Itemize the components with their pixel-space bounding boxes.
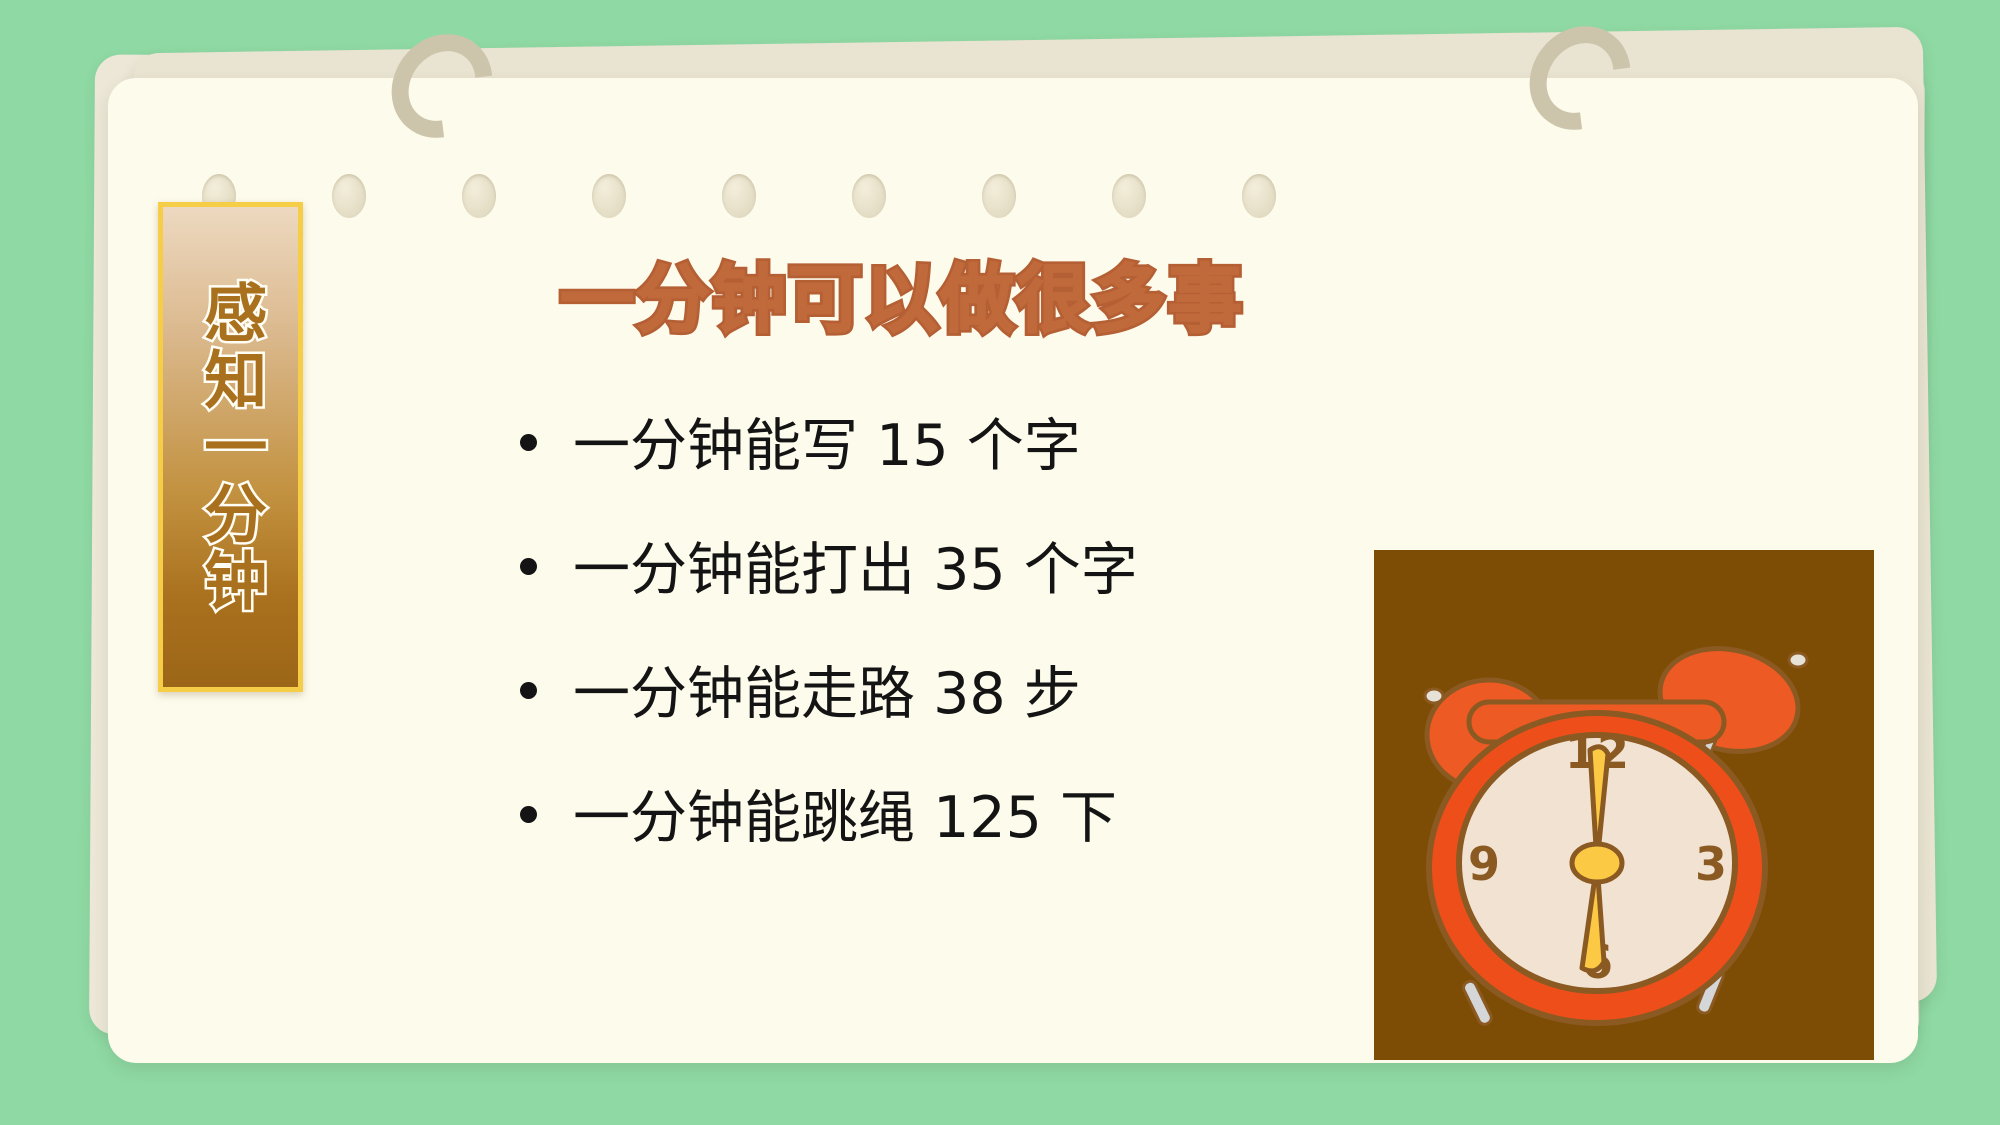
alarm-clock-illustration: 12 3 6 9 (1374, 550, 1874, 1060)
alarm-clock-image: 12 3 6 9 (1374, 550, 1874, 1060)
list-item: 一分钟能走路 38 步 (520, 648, 1300, 730)
spiral-ring-hook (1532, 24, 1628, 132)
punch-hole (462, 174, 496, 218)
punch-hole (1112, 174, 1146, 218)
bullet-dot-icon (520, 434, 537, 451)
notebook-page-front: 一分钟可以做很多事 一分钟可以做很多事 一分钟能写 15 个字 一分钟能打出 3… (108, 78, 1918, 1063)
vertical-section-label-text: 感知一分钟 (198, 280, 264, 615)
bullet-list: 一分钟能写 15 个字 一分钟能打出 35 个字 一分钟能走路 38 步 一分钟… (520, 400, 1300, 896)
punch-hole (332, 174, 366, 218)
list-item-label: 一分钟能打出 35 个字 (573, 524, 1138, 606)
vertical-section-label: 感知一分钟 (158, 202, 303, 692)
svg-text:3: 3 (1695, 837, 1727, 891)
list-item-label: 一分钟能写 15 个字 (573, 400, 1081, 482)
slide-title-outline: 一分钟可以做很多事 (560, 240, 1244, 347)
punch-hole (852, 174, 886, 218)
bullet-dot-icon (520, 806, 537, 823)
spiral-ring-hook (394, 32, 490, 140)
list-item: 一分钟能跳绳 125 下 (520, 772, 1300, 854)
bullet-dot-icon (520, 558, 537, 575)
slide-canvas: 一分钟可以做很多事 一分钟可以做很多事 一分钟能写 15 个字 一分钟能打出 3… (0, 0, 2000, 1125)
list-item-label: 一分钟能走路 38 步 (573, 648, 1081, 730)
bullet-dot-icon (520, 682, 537, 699)
notebook-hole-row (108, 78, 1918, 258)
list-item-label: 一分钟能跳绳 125 下 (573, 772, 1117, 854)
punch-hole (722, 174, 756, 218)
svg-text:9: 9 (1468, 837, 1500, 891)
punch-hole (592, 174, 626, 218)
punch-hole (982, 174, 1016, 218)
list-item: 一分钟能打出 35 个字 (520, 524, 1300, 606)
list-item: 一分钟能写 15 个字 (520, 400, 1300, 482)
punch-hole (1242, 174, 1276, 218)
